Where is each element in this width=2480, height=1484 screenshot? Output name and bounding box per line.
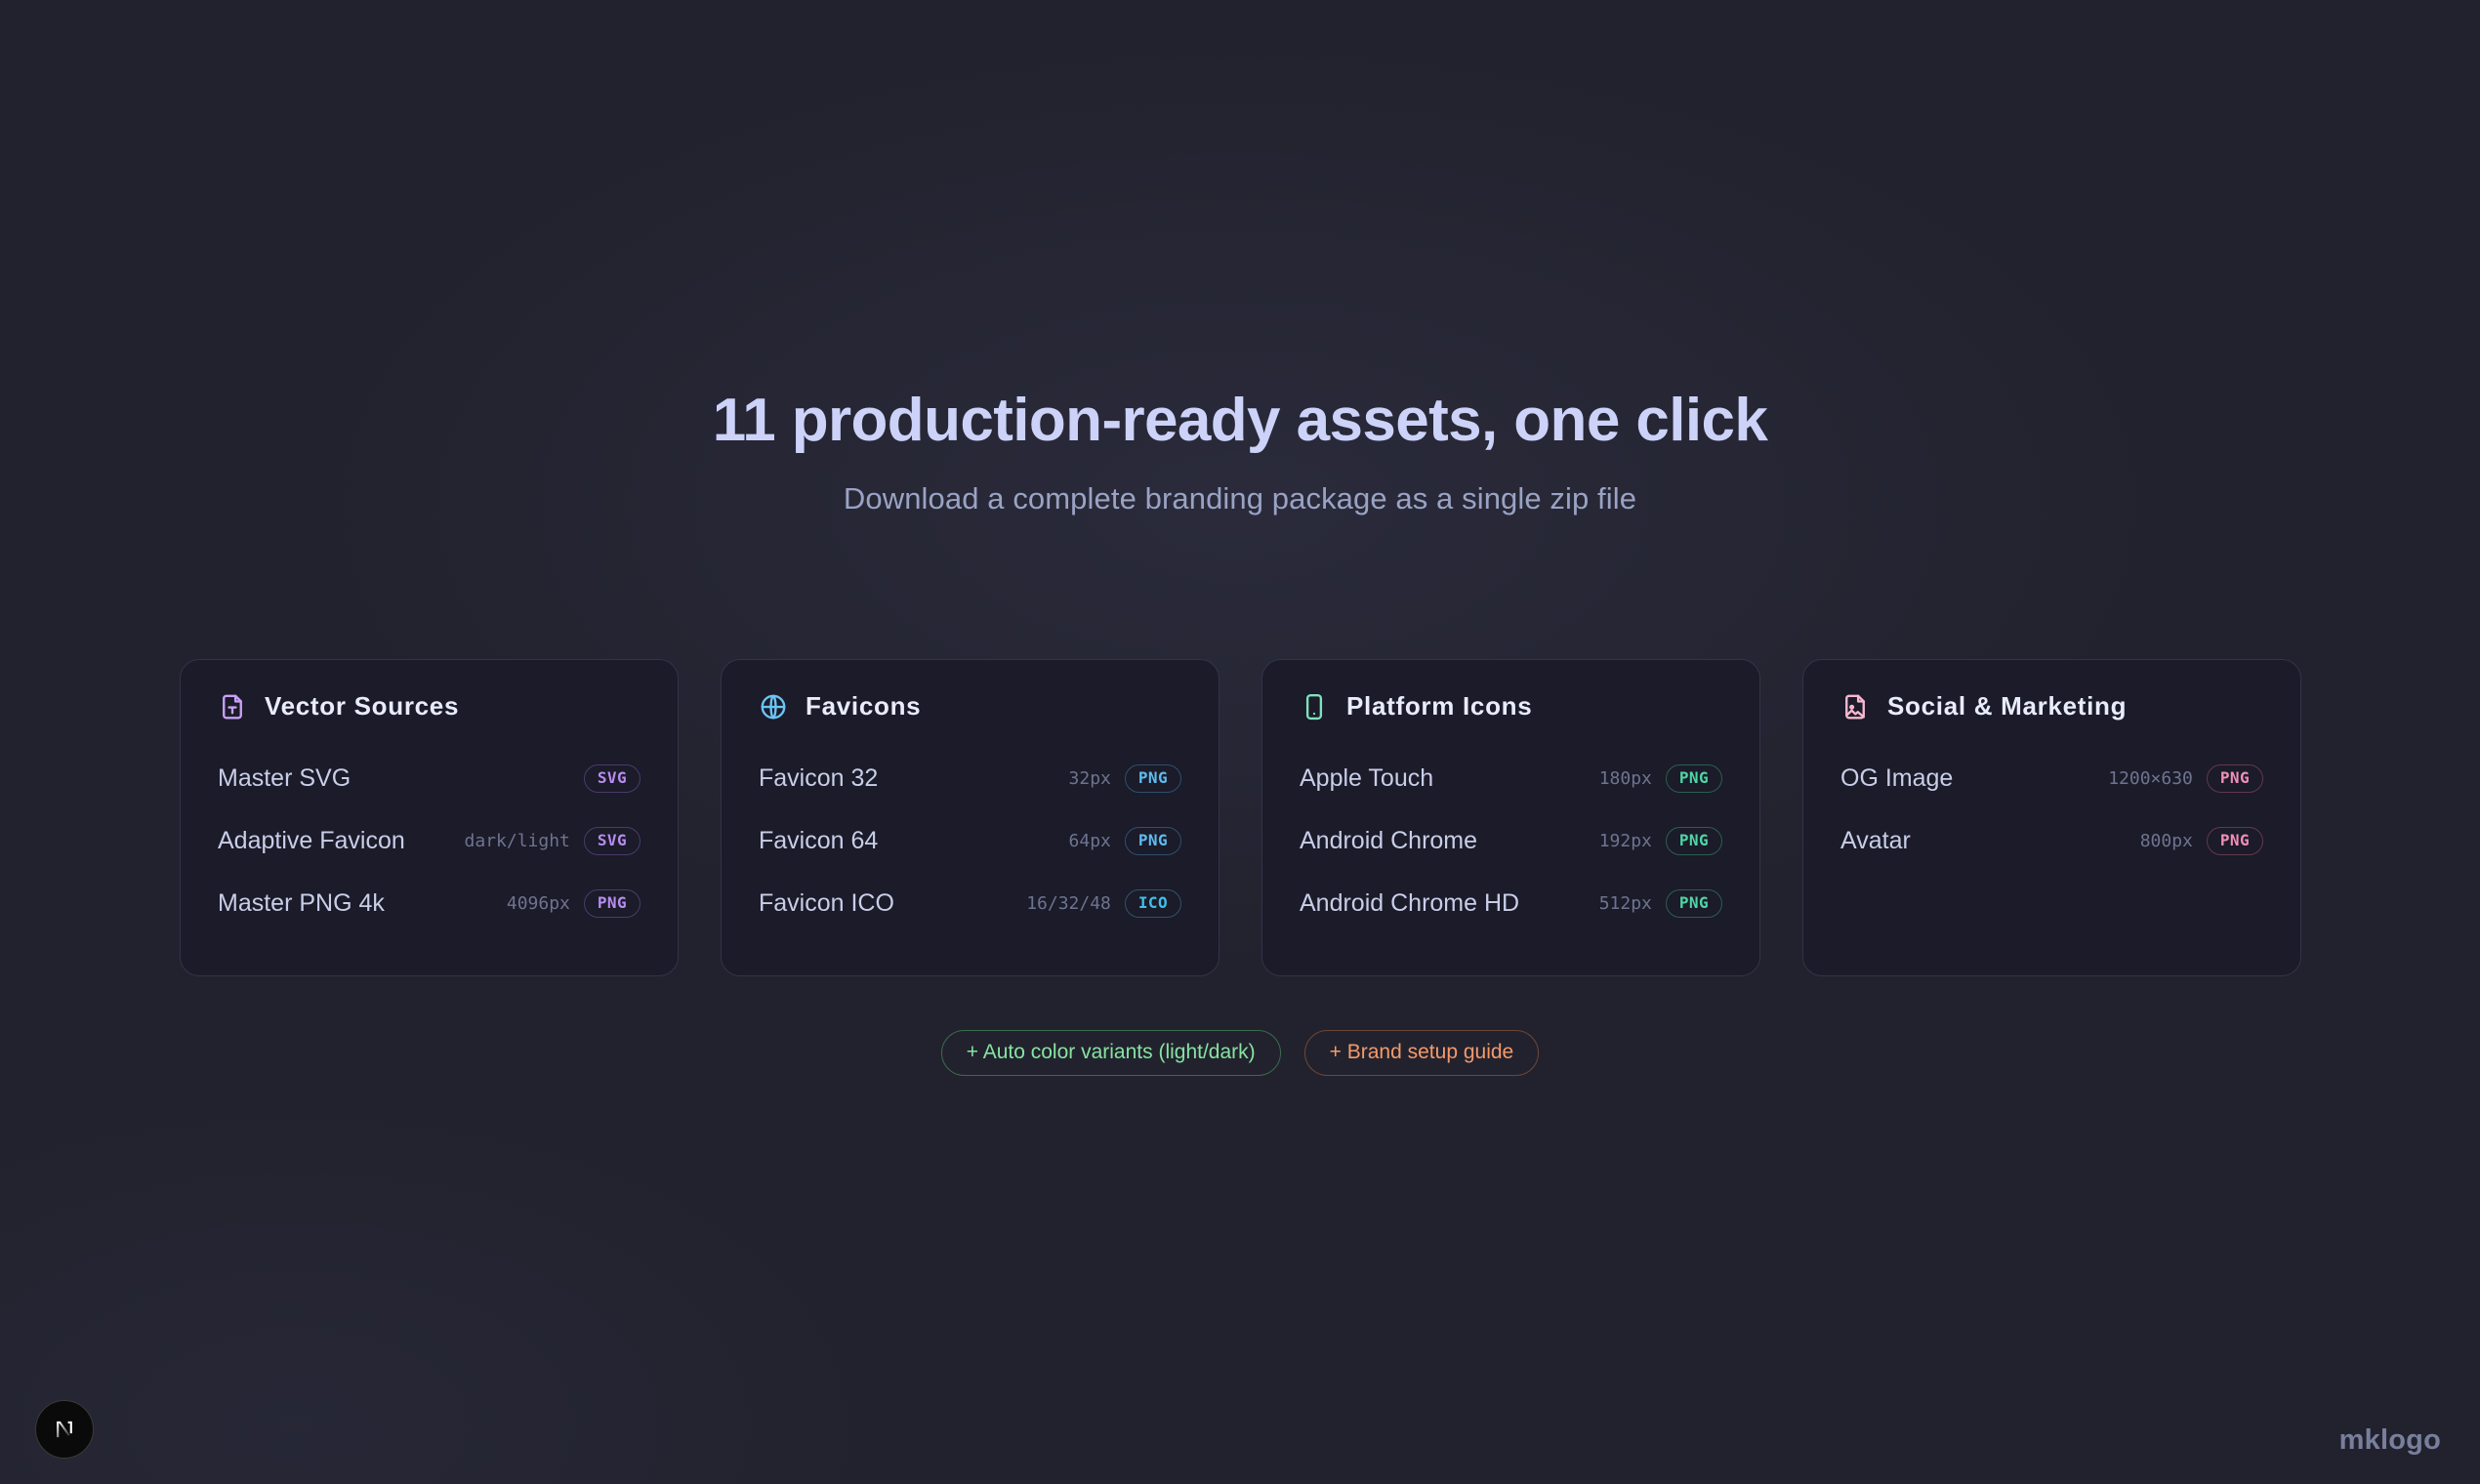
format-badge-label: ICO <box>1138 895 1168 911</box>
asset-row[interactable]: OG Image 1200×630 PNG <box>1840 747 2263 809</box>
asset-name: Favicon 64 <box>759 827 878 855</box>
file-type-icon <box>218 692 247 721</box>
format-badge-label: SVG <box>598 770 627 786</box>
card-title: Favicons <box>806 691 921 721</box>
format-badge-label: PNG <box>1138 833 1168 848</box>
asset-name: Android Chrome HD <box>1300 889 1519 918</box>
card-title: Platform Icons <box>1346 691 1532 721</box>
asset-size: 800px <box>2140 831 2193 851</box>
card-title: Social & Marketing <box>1887 691 2127 721</box>
asset-row-list: Apple Touch 180px PNG Android Chrome 192… <box>1300 747 1722 934</box>
asset-card-platform-icons[interactable]: Platform Icons Apple Touch 180px PNG And… <box>1261 659 1760 976</box>
format-badge: PNG <box>1666 889 1722 918</box>
image-file-icon <box>1840 692 1870 721</box>
asset-row[interactable]: Android Chrome HD 512px PNG <box>1300 872 1722 934</box>
page-subtitle: Download a complete branding package as … <box>0 481 2480 516</box>
asset-name: Android Chrome <box>1300 827 1477 855</box>
asset-size: 32px <box>1069 768 1111 789</box>
asset-size: 192px <box>1599 831 1652 851</box>
asset-size: 180px <box>1599 768 1652 789</box>
asset-size: 4096px <box>507 893 570 914</box>
asset-name: Master PNG 4k <box>218 889 385 918</box>
format-badge-label: PNG <box>2220 833 2250 848</box>
format-badge-label: PNG <box>1679 770 1709 786</box>
page-root: 11 production-ready assets, one click Do… <box>0 0 2480 1484</box>
asset-row[interactable]: Android Chrome 192px PNG <box>1300 809 1722 872</box>
card-header: Platform Icons <box>1300 691 1722 721</box>
asset-name: Favicon ICO <box>759 889 894 918</box>
format-badge: PNG <box>1666 827 1722 855</box>
asset-row[interactable]: Adaptive Favicon dark/light SVG <box>218 809 641 872</box>
asset-name: Adaptive Favicon <box>218 827 405 855</box>
format-badge-label: PNG <box>1138 770 1168 786</box>
format-badge-label: PNG <box>598 895 627 911</box>
asset-row[interactable]: Apple Touch 180px PNG <box>1300 747 1722 809</box>
card-header: Vector Sources <box>218 691 641 721</box>
format-badge: SVG <box>584 827 641 855</box>
format-badge: SVG <box>584 764 641 793</box>
extra-pill-brand-setup-guide[interactable]: + Brand setup guide <box>1304 1030 1540 1076</box>
asset-size: 512px <box>1599 893 1652 914</box>
format-badge: PNG <box>1125 764 1181 793</box>
format-badge: PNG <box>584 889 641 918</box>
format-badge: PNG <box>2207 827 2263 855</box>
format-badge-label: PNG <box>1679 895 1709 911</box>
format-badge-label: PNG <box>2220 770 2250 786</box>
card-header: Favicons <box>759 691 1181 721</box>
format-badge: PNG <box>1125 827 1181 855</box>
watermark-mklogo: mklogo <box>2339 1424 2441 1457</box>
asset-cards-grid: Vector Sources Master SVG SVG Adaptive F… <box>180 659 2301 976</box>
asset-size: 16/32/48 <box>1026 893 1111 914</box>
nextjs-logo-icon[interactable] <box>35 1400 94 1459</box>
asset-row-list: Master SVG SVG Adaptive Favicon dark/lig… <box>218 747 641 934</box>
page-title: 11 production-ready assets, one click <box>0 389 2480 454</box>
format-badge-label: PNG <box>1679 833 1709 848</box>
asset-name: Master SVG <box>218 764 351 793</box>
asset-card-vector-sources[interactable]: Vector Sources Master SVG SVG Adaptive F… <box>180 659 679 976</box>
extra-pill-auto-color-variants[interactable]: + Auto color variants (light/dark) <box>941 1030 1281 1076</box>
asset-size: dark/light <box>465 831 570 851</box>
extras-row: + Auto color variants (light/dark) + Bra… <box>0 1030 2480 1076</box>
asset-name: Apple Touch <box>1300 764 1433 793</box>
hero-section: 11 production-ready assets, one click Do… <box>0 389 2480 516</box>
format-badge-label: SVG <box>598 833 627 848</box>
asset-name: Favicon 32 <box>759 764 878 793</box>
asset-size: 64px <box>1069 831 1111 851</box>
card-header: Social & Marketing <box>1840 691 2263 721</box>
asset-row-list: OG Image 1200×630 PNG Avatar 800px PNG <box>1840 747 2263 872</box>
asset-card-favicons[interactable]: Favicons Favicon 32 32px PNG Favicon 64 … <box>721 659 1219 976</box>
asset-card-social-marketing[interactable]: Social & Marketing OG Image 1200×630 PNG… <box>1802 659 2301 976</box>
smartphone-icon <box>1300 692 1329 721</box>
asset-row[interactable]: Avatar 800px PNG <box>1840 809 2263 872</box>
asset-row[interactable]: Master SVG SVG <box>218 747 641 809</box>
asset-row[interactable]: Master PNG 4k 4096px PNG <box>218 872 641 934</box>
format-badge: ICO <box>1125 889 1181 918</box>
asset-size: 1200×630 <box>2108 768 2193 789</box>
asset-row[interactable]: Favicon 32 32px PNG <box>759 747 1181 809</box>
format-badge: PNG <box>1666 764 1722 793</box>
globe-icon <box>759 692 788 721</box>
asset-name: OG Image <box>1840 764 1953 793</box>
asset-name: Avatar <box>1840 827 1911 855</box>
asset-row[interactable]: Favicon ICO 16/32/48 ICO <box>759 872 1181 934</box>
asset-row[interactable]: Favicon 64 64px PNG <box>759 809 1181 872</box>
card-title: Vector Sources <box>265 691 459 721</box>
format-badge: PNG <box>2207 764 2263 793</box>
asset-row-list: Favicon 32 32px PNG Favicon 64 64px PNG … <box>759 747 1181 934</box>
